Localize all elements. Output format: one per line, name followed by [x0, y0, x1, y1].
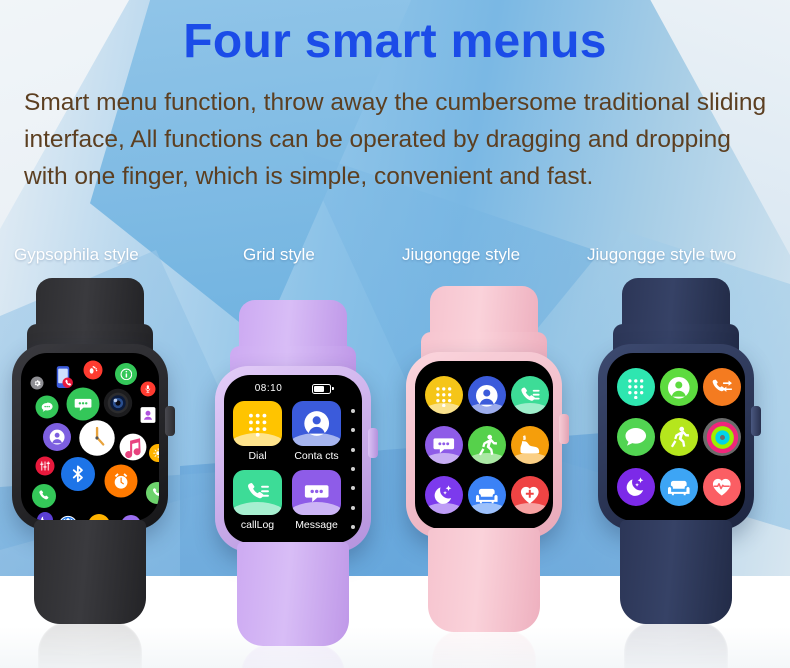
- watch-reflection: [432, 630, 536, 668]
- camera-icon[interactable]: [103, 388, 134, 419]
- steps-shoe-icon[interactable]: [511, 426, 549, 464]
- watch-jiugongge-two: [588, 278, 764, 668]
- phone-green-icon[interactable]: [32, 484, 56, 508]
- microphone-icon[interactable]: [141, 382, 156, 397]
- watch-jiugongge: [396, 286, 572, 668]
- sleep-moon-icon[interactable]: [425, 476, 463, 514]
- watch-reflection: [241, 644, 345, 668]
- watch-screen[interactable]: [21, 353, 159, 521]
- status-bar: 08:10: [224, 382, 362, 395]
- message-small-icon[interactable]: [36, 396, 59, 419]
- message-icon[interactable]: [617, 418, 655, 456]
- message-icon[interactable]: [425, 426, 463, 464]
- scroll-dot[interactable]: [351, 525, 355, 529]
- watch-case: [598, 344, 754, 530]
- scroll-indicator[interactable]: [350, 409, 355, 529]
- brightness-icon[interactable]: [149, 444, 159, 462]
- dialpad-icon[interactable]: [233, 401, 282, 446]
- sleep-moon-icon[interactable]: [617, 468, 655, 506]
- grid-app-label: Conta cts: [294, 450, 338, 462]
- watch-gypsophila: [2, 278, 178, 668]
- style-label-jiugongge-two: Jiugongge style two: [587, 245, 736, 265]
- compass-icon[interactable]: [151, 512, 160, 522]
- grid-app-2[interactable]: callLog: [233, 470, 282, 537]
- contacts-icon[interactable]: [43, 423, 71, 451]
- scroll-dot[interactable]: [351, 409, 355, 413]
- calllog-icon[interactable]: [703, 368, 741, 406]
- calllog-icon[interactable]: [233, 470, 282, 515]
- grid-app-label: callLog: [241, 519, 274, 531]
- contacts-icon[interactable]: [468, 376, 506, 414]
- watch-reflection: [624, 622, 728, 668]
- music-icon[interactable]: [119, 433, 147, 461]
- status-time: 08:10: [255, 383, 283, 394]
- bluetooth-icon[interactable]: [61, 457, 95, 491]
- scroll-dot[interactable]: [351, 486, 355, 490]
- style-label-jiugongge: Jiugongge style: [402, 245, 520, 265]
- watch-crown[interactable]: [751, 406, 761, 436]
- running-icon[interactable]: [660, 418, 698, 456]
- watch-reflection: [38, 622, 142, 668]
- heart-rate-icon[interactable]: [511, 476, 549, 514]
- contacts-card-icon[interactable]: [138, 405, 159, 426]
- contacts-icon[interactable]: [292, 401, 341, 446]
- watch-band-top: [36, 278, 144, 350]
- watch-case: [406, 352, 562, 538]
- watch-grid: 08:10 DialConta ctscallLogMessage: [205, 300, 381, 668]
- scroll-dot[interactable]: [351, 467, 355, 471]
- message-icon[interactable]: [67, 388, 100, 421]
- info-icon[interactable]: [115, 363, 137, 385]
- settings-icon[interactable]: [31, 377, 44, 390]
- health-steps-icon[interactable]: [84, 360, 103, 379]
- clock-icon[interactable]: [78, 419, 116, 457]
- page-description: Smart menu function, throw away the cumb…: [24, 84, 772, 195]
- dialpad-icon[interactable]: [617, 368, 655, 406]
- contacts-icon[interactable]: [660, 368, 698, 406]
- sedentary-sofa-icon[interactable]: [468, 476, 506, 514]
- watch-crown[interactable]: [368, 428, 378, 458]
- watch-band-top: [239, 300, 347, 372]
- grid-app-0[interactable]: Dial: [233, 401, 282, 468]
- grid-app-3[interactable]: Message: [292, 470, 341, 537]
- message-icon[interactable]: [292, 470, 341, 515]
- scroll-dot[interactable]: [351, 506, 355, 510]
- call-smile-icon[interactable]: [146, 482, 159, 504]
- running-icon[interactable]: [468, 426, 506, 464]
- grid-app-label: Dial: [248, 450, 266, 462]
- scroll-dot[interactable]: [351, 428, 355, 432]
- grid-menu[interactable]: DialConta ctscallLogMessage: [233, 401, 340, 537]
- watch-crown[interactable]: [559, 414, 569, 444]
- watch-screen[interactable]: [607, 353, 745, 521]
- style-label-row: Gypsophila style Grid style Jiugongge st…: [0, 245, 790, 271]
- watch-case: [12, 344, 168, 530]
- nine-grid-menu[interactable]: [415, 361, 553, 529]
- calllog-icon[interactable]: [511, 376, 549, 414]
- alarm-icon[interactable]: [105, 465, 138, 498]
- watch-band-bottom: [237, 542, 349, 646]
- watch-band-bottom: [620, 520, 732, 624]
- dialpad-icon[interactable]: [425, 376, 463, 414]
- equalizer-icon[interactable]: [36, 457, 55, 476]
- page-title: Four smart menus: [0, 14, 790, 69]
- watch-screen[interactable]: [415, 361, 553, 529]
- watch-case: 08:10 DialConta ctscallLogMessage: [215, 366, 371, 552]
- heart-rate-icon[interactable]: [703, 468, 741, 506]
- sedentary-sofa-icon[interactable]: [660, 468, 698, 506]
- honeycomb-menu[interactable]: [21, 353, 159, 521]
- battery-icon: [312, 384, 331, 394]
- style-label-grid: Grid style: [243, 245, 315, 265]
- grid-app-label: Message: [295, 519, 338, 531]
- style-label-gypsophila: Gypsophila style: [14, 245, 139, 265]
- watch-band-bottom: [34, 520, 146, 624]
- poster-stage: Four smart menus Smart menu function, th…: [0, 0, 790, 668]
- watch-crown[interactable]: [165, 406, 175, 436]
- phone-app-icon[interactable]: [51, 365, 76, 390]
- scroll-dot[interactable]: [351, 448, 355, 452]
- watch-band-top: [430, 286, 538, 358]
- nine-grid-menu[interactable]: [607, 353, 745, 521]
- activity-rings-icon[interactable]: [703, 418, 741, 456]
- watch-band-top: [622, 278, 730, 350]
- grid-app-1[interactable]: Conta cts: [292, 401, 341, 468]
- watch-band-bottom: [428, 528, 540, 632]
- watch-screen[interactable]: 08:10 DialConta ctscallLogMessage: [224, 375, 362, 543]
